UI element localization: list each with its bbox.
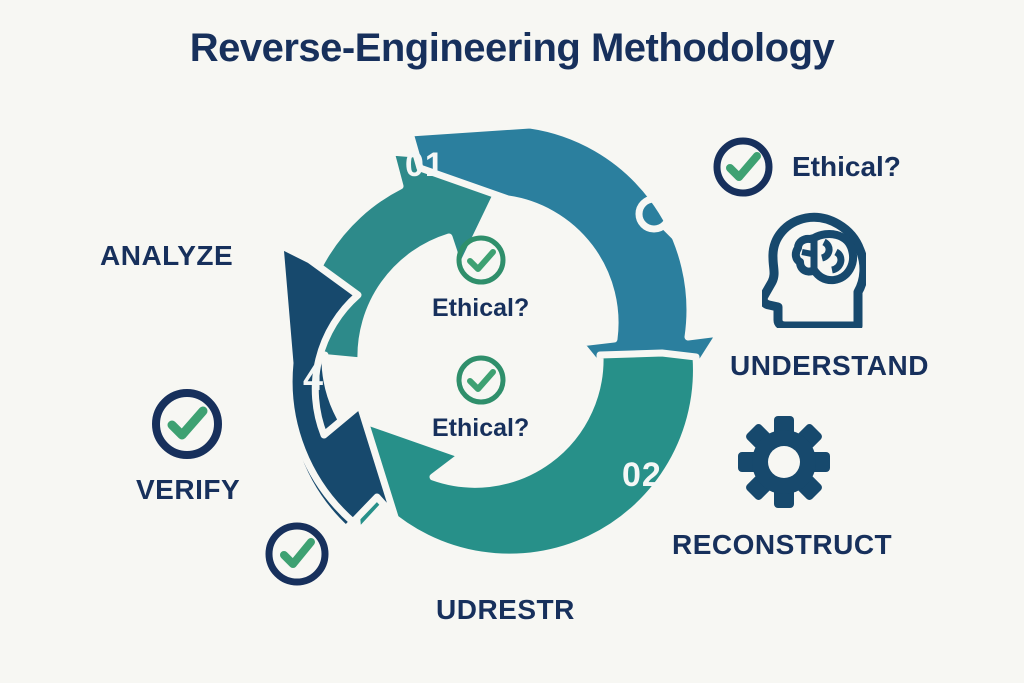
- center-ethical-label-1: Ethical?: [432, 294, 529, 323]
- center-ethical-label-2: Ethical?: [432, 414, 529, 443]
- arc-number-01: 01: [405, 146, 445, 185]
- check-icon: [148, 385, 226, 463]
- stage-label-udrestr: UDRESTR: [436, 594, 575, 626]
- center-ethical-check-2: Ethical?: [432, 352, 529, 443]
- page-title: Reverse-Engineering Methodology: [0, 26, 1024, 71]
- gear-icon: [736, 414, 832, 510]
- stage-label-reconstruct: RECONSTRUCT: [672, 529, 892, 561]
- check-icon: [453, 232, 509, 288]
- check-icon: [453, 352, 509, 408]
- diagram-canvas: Reverse-Engineering Methodology 01 02 4: [0, 0, 1024, 683]
- check-icon: [710, 134, 776, 200]
- cycle-diagram: [250, 105, 720, 575]
- stage-label-verify: VERIFY: [136, 474, 240, 506]
- ethical-check-right: Ethical?: [710, 134, 901, 200]
- magnifier-icon: [630, 190, 692, 252]
- arc-number-02: 02: [622, 456, 662, 495]
- head-with-brain-icon: [762, 208, 866, 328]
- stage-label-analyze: ANALYZE: [100, 240, 233, 272]
- ethical-right-label: Ethical?: [792, 151, 901, 183]
- arc-number-04: 4: [303, 357, 324, 399]
- stage-label-understand: UNDERSTAND: [730, 350, 929, 382]
- check-icon: [262, 519, 332, 589]
- center-ethical-check-1: Ethical?: [432, 232, 529, 323]
